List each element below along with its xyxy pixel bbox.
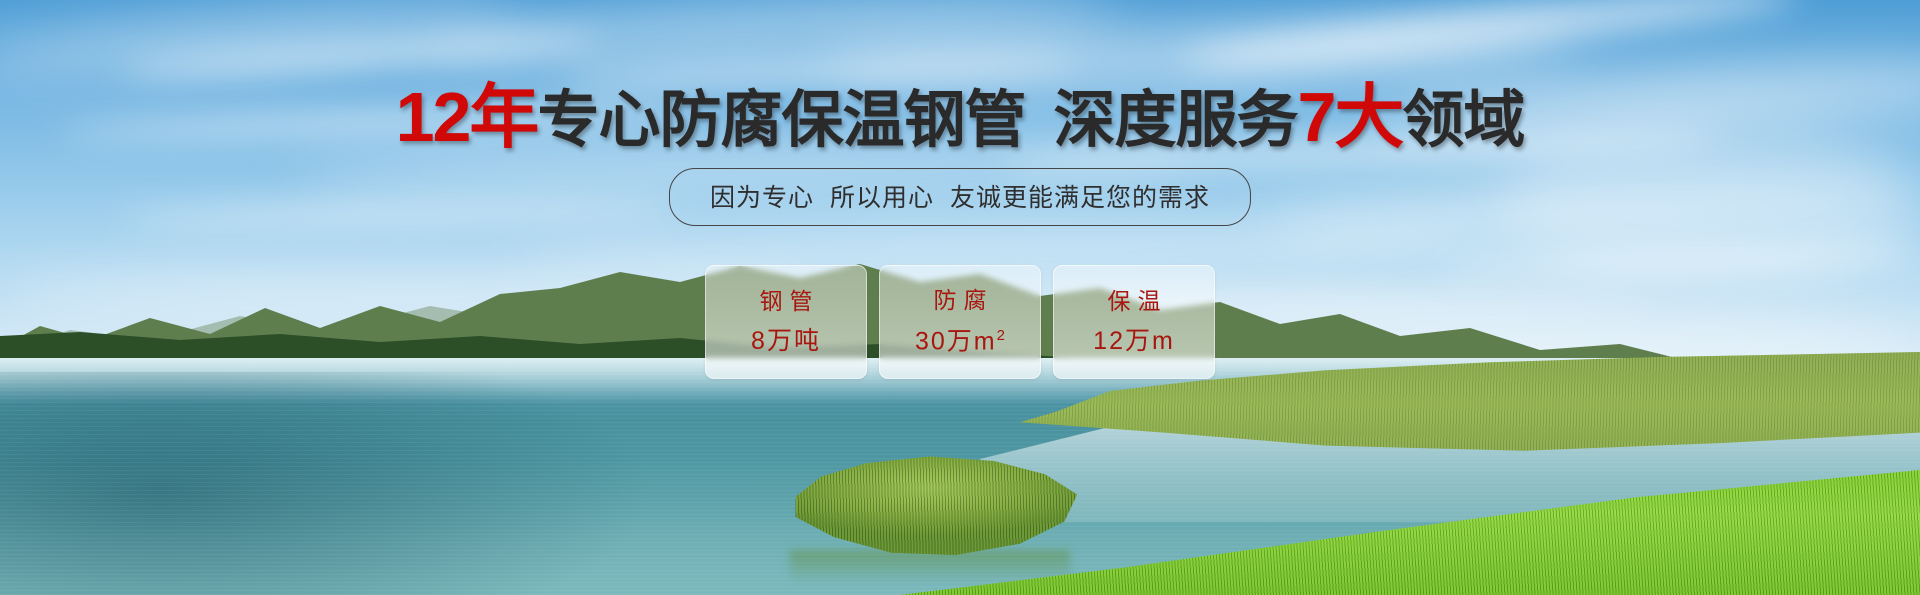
stat-card-group: 钢管 8万吨 防腐 30万m2 保温 12万m xyxy=(705,265,1215,379)
headline-years: 12年 xyxy=(396,78,538,156)
headline-fields-count: 7大 xyxy=(1297,78,1402,156)
stat-card-steel-pipe[interactable]: 钢管 8万吨 xyxy=(705,265,867,379)
stat-card-label: 钢管 xyxy=(753,290,820,313)
headline-service-text: 深度服务 xyxy=(1053,86,1297,155)
headline-main-text: 专心防腐保温钢管 xyxy=(537,86,1025,155)
stat-card-insulation[interactable]: 保温 12万m xyxy=(1053,265,1215,379)
banner-headline: 12年专心防腐保温钢管深度服务7大领域 xyxy=(0,82,1920,152)
headline-fields-text: 领域 xyxy=(1402,86,1524,155)
stat-card-value-base: 12万m xyxy=(1093,327,1175,355)
stat-card-value: 30万m2 xyxy=(915,328,1005,354)
banner-content: 12年专心防腐保温钢管深度服务7大领域 因为专心所以用心友诚更能满足您的需求 钢… xyxy=(0,0,1920,595)
subtitle-part-2: 所以用心 xyxy=(830,184,934,212)
stat-card-value-base: 30万m xyxy=(915,328,997,356)
promo-banner: 12年专心防腐保温钢管深度服务7大领域 因为专心所以用心友诚更能满足您的需求 钢… xyxy=(0,0,1920,595)
stat-card-value: 8万吨 xyxy=(751,329,821,354)
stat-card-label: 保温 xyxy=(1101,290,1168,313)
stat-card-anticorrosion[interactable]: 防腐 30万m2 xyxy=(879,265,1041,379)
subtitle-part-3: 友诚更能满足您的需求 xyxy=(950,184,1210,212)
subtitle-part-1: 因为专心 xyxy=(710,184,814,212)
stat-card-value-superscript: 2 xyxy=(997,327,1005,344)
stat-card-value-base: 8万吨 xyxy=(751,327,821,355)
stat-card-value: 12万m xyxy=(1093,329,1175,354)
stat-card-label: 防腐 xyxy=(927,289,994,312)
subtitle-pill: 因为专心所以用心友诚更能满足您的需求 xyxy=(669,168,1251,226)
